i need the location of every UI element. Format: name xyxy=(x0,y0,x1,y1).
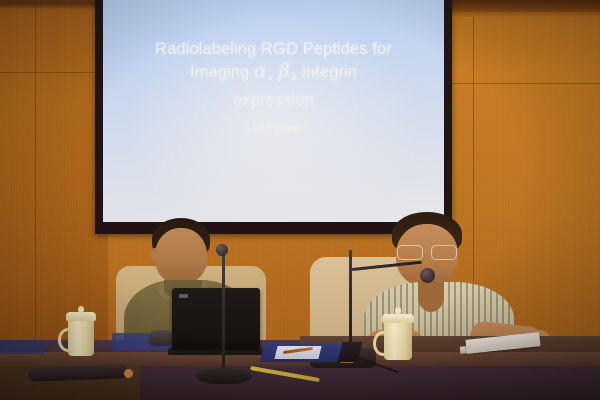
laptop[interactable] xyxy=(172,288,260,350)
presentation-photo: Radiolabeling RGD Peptides for Imaging α… xyxy=(0,0,600,400)
greek-alpha-glyph: α xyxy=(254,60,267,82)
teacup-right-lid[interactable] xyxy=(382,314,414,323)
wall-seam-horizontal-right xyxy=(450,83,600,84)
open-collar-right-man xyxy=(418,282,444,312)
gooseneck-microphone-right-stem xyxy=(349,250,352,350)
teacup-left-knob xyxy=(78,306,84,313)
glasses-right-man xyxy=(396,245,458,258)
gooseneck-microphone-left-base[interactable] xyxy=(196,368,252,384)
slide-title-line-2: Imaging αv β3 integrin xyxy=(103,60,444,89)
laptop-logo xyxy=(179,294,188,298)
gooseneck-microphone-right-head xyxy=(420,268,435,283)
slide-title-line-1: Radiolabeling RGD Peptides for xyxy=(103,38,444,60)
ceiling-trim-band-lower xyxy=(450,12,600,17)
projection-screen: Radiolabeling RGD Peptides for Imaging α… xyxy=(103,0,444,222)
teacup-left[interactable] xyxy=(68,318,94,356)
slide-imaging-word: Imaging xyxy=(190,63,249,81)
teacup-right[interactable] xyxy=(384,320,412,360)
wall-seam-horizontal-left xyxy=(0,72,108,73)
slide-content: Radiolabeling RGD Peptides for Imaging α… xyxy=(103,38,444,134)
slide-title-line-3: expression xyxy=(103,89,444,111)
slide-integrin-word: integrin xyxy=(302,63,357,81)
teacup-left-lid[interactable] xyxy=(66,312,96,321)
teacup-right-knob xyxy=(395,307,401,315)
handheld-microphone-tip xyxy=(124,369,133,378)
computer-mouse[interactable] xyxy=(148,330,174,346)
greek-beta-glyph: β xyxy=(279,60,290,82)
blue-cloth-left xyxy=(0,340,44,354)
ear-left-man xyxy=(151,248,159,262)
gooseneck-microphone-left-head xyxy=(216,244,228,256)
alpha-subscript: v xyxy=(267,72,274,83)
slide-author: Lixin Lang xyxy=(103,122,444,134)
projection-screen-frame: Radiolabeling RGD Peptides for Imaging α… xyxy=(95,0,452,234)
gooseneck-microphone-left-stem xyxy=(222,252,225,372)
beta-subscript: 3 xyxy=(290,72,298,83)
